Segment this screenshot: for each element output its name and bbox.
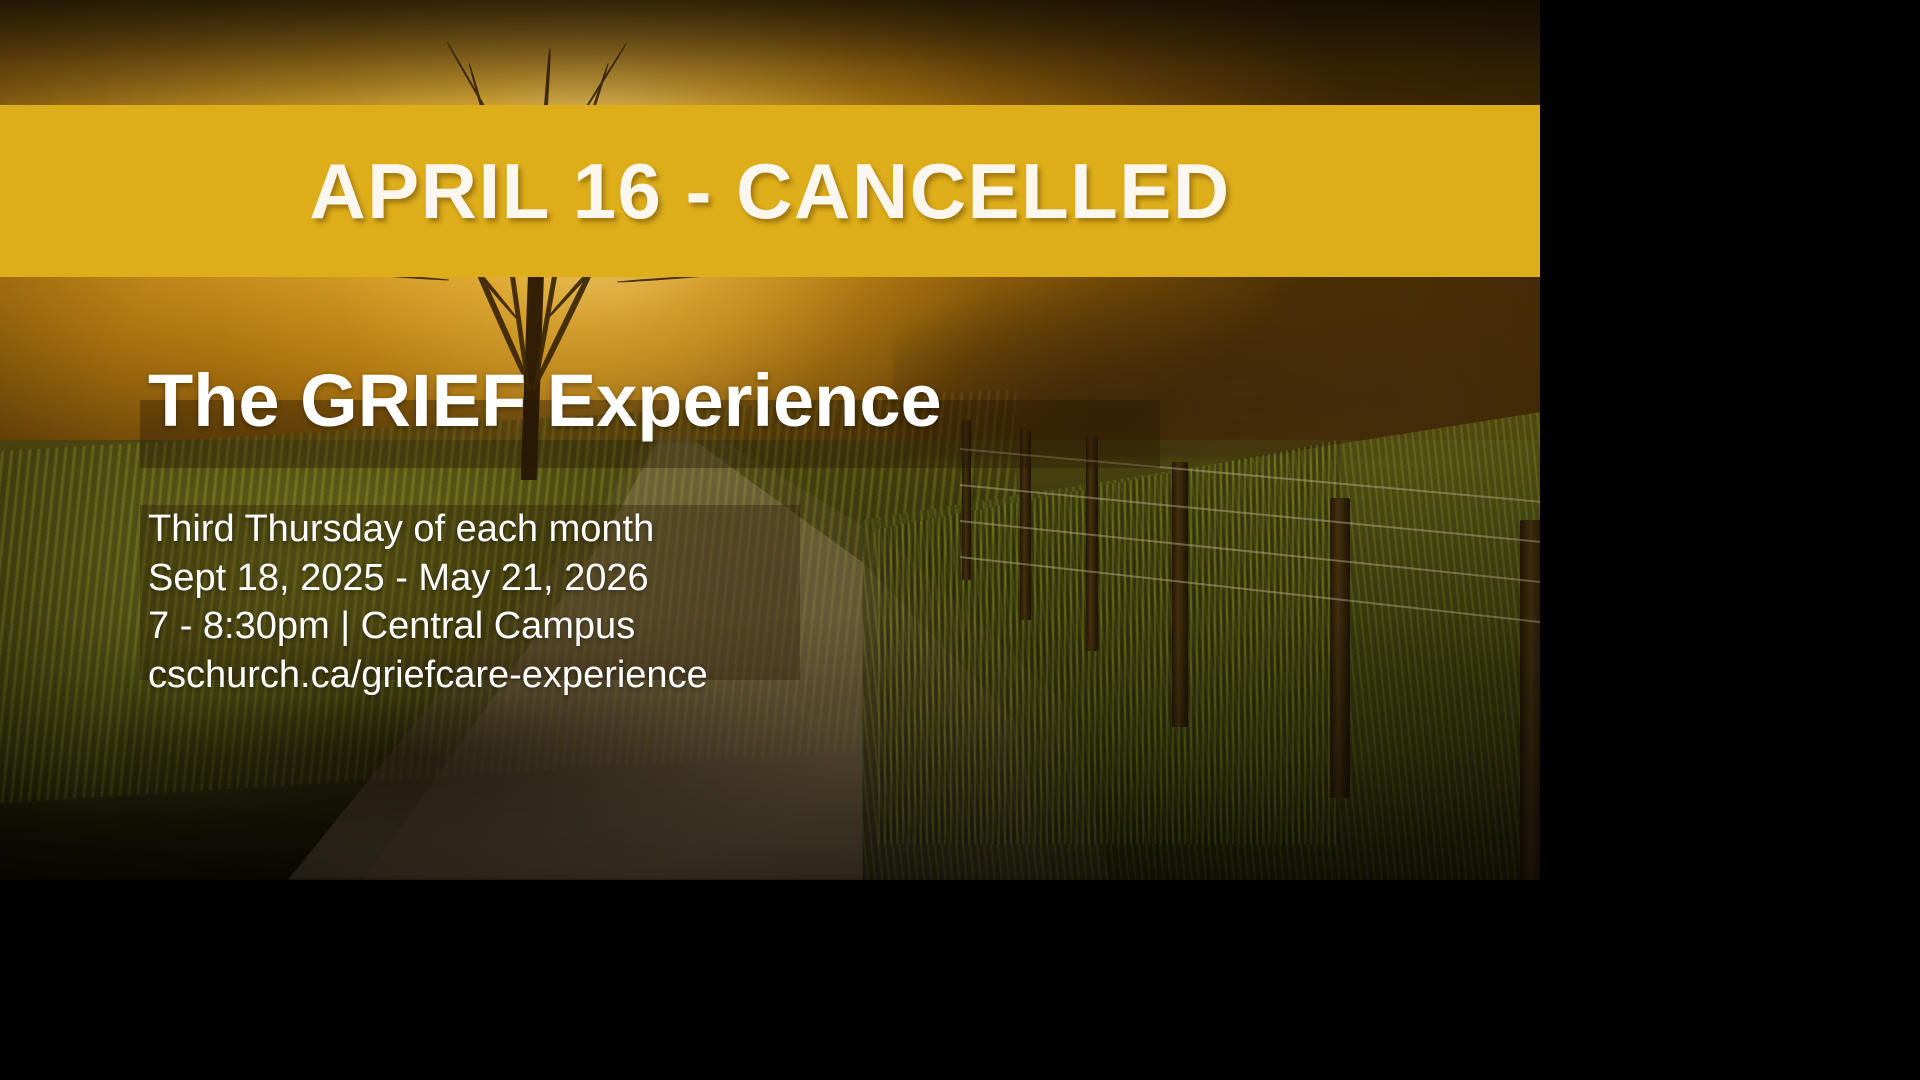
detail-date-range: Sept 18, 2025 - May 21, 2026 (148, 554, 708, 603)
cancellation-notice: APRIL 16 - CANCELLED (309, 152, 1230, 230)
detail-time-location: 7 - 8:30pm | Central Campus (148, 602, 708, 651)
cancellation-banner: APRIL 16 - CANCELLED (0, 105, 1540, 277)
details-block: Third Thursday of each month Sept 18, 20… (148, 505, 708, 700)
details-text: Third Thursday of each month Sept 18, 20… (148, 505, 708, 700)
promo-graphic: APRIL 16 - CANCELLED The GRIEF Experienc… (0, 0, 1540, 880)
detail-url[interactable]: cschurch.ca/griefcare-experience (148, 651, 708, 700)
title-block: The GRIEF Experience (148, 362, 942, 440)
detail-schedule: Third Thursday of each month (148, 505, 708, 554)
page-title: The GRIEF Experience (148, 362, 942, 440)
